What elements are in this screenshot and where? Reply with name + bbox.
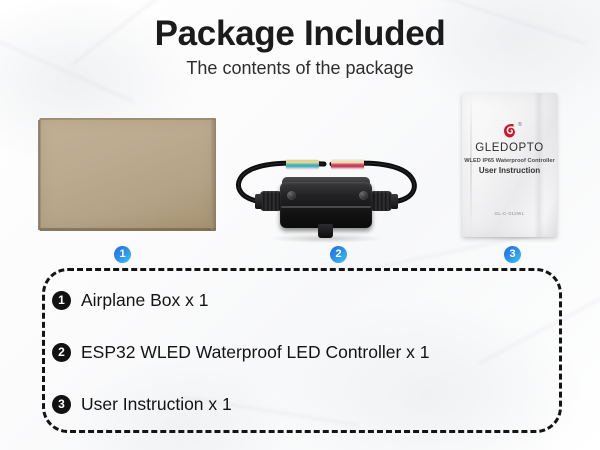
product-image-waterproof-controller bbox=[228, 150, 423, 245]
list-item-number: 2 bbox=[52, 343, 71, 362]
product-badge-3: 3 bbox=[504, 246, 521, 263]
controller-screw-left bbox=[287, 191, 296, 200]
wire-connector-left bbox=[286, 160, 319, 169]
brand-logo-wrap: ® bbox=[462, 123, 557, 143]
box-top-fold bbox=[40, 118, 216, 120]
registered-mark: ® bbox=[518, 122, 522, 128]
controller-screw-right bbox=[359, 191, 368, 200]
controller-vent bbox=[318, 224, 333, 238]
gledopto-logo-icon: ® bbox=[503, 123, 516, 138]
product-image-airplane-box bbox=[26, 118, 216, 233]
controller-seam bbox=[281, 206, 371, 208]
list-item: 2 ESP32 WLED Waterproof LED Controller x… bbox=[52, 334, 552, 371]
booklet-doc-title: User Instruction bbox=[462, 166, 557, 175]
controller-housing bbox=[280, 182, 372, 228]
page-title: Package Included bbox=[0, 14, 600, 54]
box-right-edge bbox=[211, 119, 216, 230]
wire-connector-right bbox=[331, 160, 364, 169]
list-item-label: Airplane Box x 1 bbox=[81, 290, 208, 311]
cable-gland-cap-left bbox=[255, 194, 262, 209]
box-bottom-fold bbox=[40, 228, 216, 231]
booklet-model-number: GL-C-012WL bbox=[462, 211, 557, 216]
box-front-panel bbox=[39, 118, 216, 231]
list-item-label: User Instruction x 1 bbox=[81, 394, 232, 415]
list-item-number: 1 bbox=[52, 291, 71, 310]
booklet-brand-name: GLEDOPTO bbox=[462, 142, 557, 154]
booklet-product-line: WLED IP65 Waterproof Controller bbox=[462, 158, 557, 164]
cable-gland-cap-right bbox=[391, 194, 398, 209]
list-item: 1 Airplane Box x 1 bbox=[52, 282, 552, 319]
package-list: 1 Airplane Box x 1 2 ESP32 WLED Waterpro… bbox=[52, 282, 552, 438]
list-item: 3 User Instruction x 1 bbox=[52, 386, 552, 423]
list-item-number: 3 bbox=[52, 395, 71, 414]
box-seam-line bbox=[38, 120, 41, 230]
product-badge-2: 2 bbox=[330, 246, 347, 263]
package-included-graphic: Package Included The contents of the pac… bbox=[0, 0, 600, 450]
product-image-user-instruction: ® GLEDOPTO WLED IP65 Waterproof Controll… bbox=[462, 93, 557, 237]
cable-gland-left bbox=[260, 191, 282, 211]
cable-gland-right bbox=[370, 191, 392, 211]
list-item-label: ESP32 WLED Waterproof LED Controller x 1 bbox=[81, 342, 430, 363]
product-badge-1: 1 bbox=[114, 246, 131, 263]
page-subtitle: The contents of the package bbox=[0, 58, 600, 79]
